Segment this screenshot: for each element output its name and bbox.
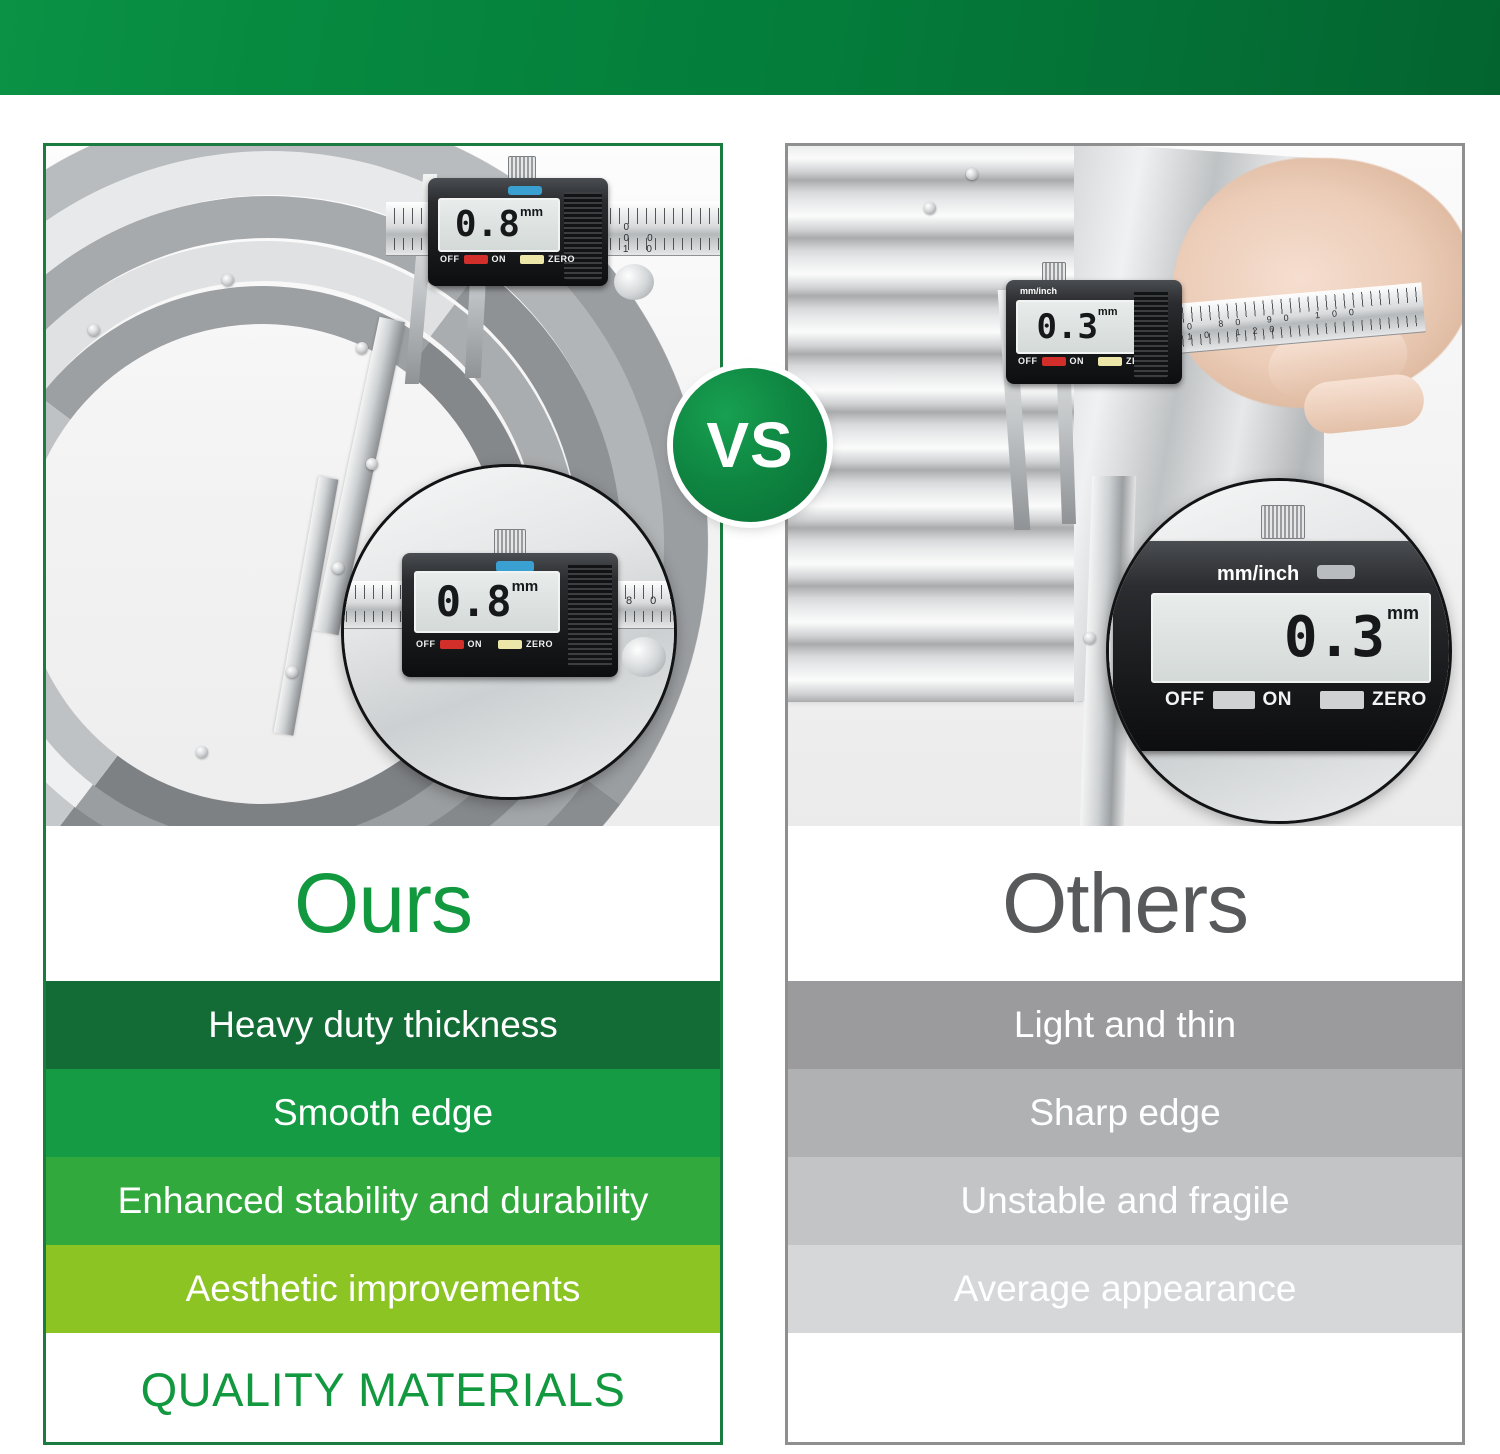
inset-zero-switch[interactable] <box>1320 691 1364 709</box>
ring-bolt <box>196 746 208 758</box>
plate-bolt <box>924 202 936 214</box>
ours-magnifier-inset: 80 0.8 mm OFF ON ZERO <box>341 464 677 800</box>
caliper-off-label: OFF <box>1018 356 1038 366</box>
ours-feature-label: Enhanced stability and durability <box>118 1180 649 1222</box>
caliper-on-label: ON <box>492 254 507 264</box>
others-footer-row <box>788 1333 1462 1445</box>
inset-caliper-reading: 0.3 <box>1284 610 1385 666</box>
caliper-button-row: OFF ON ZERO <box>1018 356 1153 366</box>
ours-feature-row-4: Aesthetic improvements <box>46 1245 720 1333</box>
inset-caliper-knob <box>1261 505 1305 539</box>
caliper-grip-ridges <box>564 192 602 280</box>
caliper-grip-ridges <box>1134 290 1168 378</box>
others-feature-label: Light and thin <box>1014 1004 1236 1046</box>
inset-caliper-numbers: 80 <box>626 595 674 607</box>
ring-bolt <box>286 666 298 678</box>
top-green-banner <box>0 0 1500 95</box>
ours-title: Ours <box>294 855 472 952</box>
inset-caliper-reading: 0.8 <box>436 581 512 623</box>
others-feature-row-3: Unstable and fragile <box>788 1157 1462 1245</box>
ours-feature-row-1: Heavy duty thickness <box>46 981 720 1069</box>
inset-caliper-display: 0.8 mm <box>414 571 560 633</box>
ours-panel: 80 100 110 0.8 mm OFF ON ZERO <box>43 143 723 1445</box>
caliper-depth-rod <box>614 264 654 300</box>
inset-caliper-off-label: OFF <box>416 639 436 649</box>
inset-power-switch[interactable] <box>440 640 464 649</box>
others-feature-row-4: Average appearance <box>788 1245 1462 1333</box>
power-switch[interactable] <box>464 255 488 264</box>
inset-caliper-ridges <box>568 563 612 667</box>
inset-mode-button[interactable] <box>1317 565 1355 579</box>
others-caliper: 70 80 90 100 110 120 mm/inch 0.3 mm OFF … <box>984 256 1424 456</box>
zero-switch[interactable] <box>520 255 544 264</box>
inset-caliper-zero-label: ZERO <box>1372 689 1427 711</box>
inset-caliper-on-label: ON <box>468 639 483 649</box>
ours-feature-row-2: Smooth edge <box>46 1069 720 1157</box>
others-magnifier-inset: mm/inch 0.3 mm OFF ON ZERO <box>1106 478 1452 824</box>
caliper-unit: mm <box>1098 306 1118 318</box>
ours-feature-label: Heavy duty thickness <box>208 1004 558 1046</box>
caliper-mode-label: mm/inch <box>1020 286 1057 296</box>
others-panel: 70 80 90 100 110 120 mm/inch 0.3 mm OFF … <box>785 143 1465 1445</box>
ring-bolt <box>222 274 234 286</box>
caliper-button-row: OFF ON ZERO <box>440 254 575 264</box>
inset-power-switch[interactable] <box>1213 691 1255 709</box>
others-title: Others <box>1002 855 1248 952</box>
plate-bolt <box>966 168 978 180</box>
caliper-blue-tab <box>508 186 542 195</box>
others-feature-label: Average appearance <box>954 1268 1297 1310</box>
inset-caliper-on-label: ON <box>1263 689 1293 711</box>
ours-feature-row-3: Enhanced stability and durability <box>46 1157 720 1245</box>
others-feature-row-1: Light and thin <box>788 981 1462 1069</box>
caliper-scale-numbers: 80 100 110 <box>600 222 720 255</box>
caliper-thumb-knob <box>1042 262 1066 282</box>
ours-feature-label: Aesthetic improvements <box>186 1268 581 1310</box>
inset-caliper-display: 0.3 mm <box>1151 593 1431 683</box>
caliper-display: 0.8 mm <box>438 198 560 252</box>
others-feature-label: Unstable and fragile <box>960 1180 1289 1222</box>
ring-bolt <box>356 342 368 354</box>
inset-caliper-unit: mm <box>512 578 539 595</box>
inset-caliper-button-row: OFF ON ZERO <box>416 639 553 649</box>
power-switch[interactable] <box>1042 357 1066 366</box>
comparison-area: 80 100 110 0.8 mm OFF ON ZERO <box>0 95 1500 1454</box>
inset-zero-switch[interactable] <box>498 640 522 649</box>
caliper-reading: 0.3 <box>1037 310 1098 344</box>
caliper-unit: mm <box>520 204 543 219</box>
caliper-reading: 0.8 <box>455 207 520 243</box>
others-title-row: Others <box>788 826 1462 981</box>
others-feature-row-2: Sharp edge <box>788 1069 1462 1157</box>
inset-caliper-off-label: OFF <box>1165 689 1205 711</box>
ring-bolt <box>88 324 100 336</box>
plate-bolt <box>1084 632 1096 644</box>
inset-caliper-unit: mm <box>1387 603 1419 624</box>
caliper-thumb-knob <box>508 156 536 180</box>
inset-caliper-zero-label: ZERO <box>526 639 553 649</box>
inset-caliper-button-row: OFF ON ZERO <box>1165 689 1427 711</box>
vs-badge: VS <box>673 368 827 522</box>
others-product-photo: 70 80 90 100 110 120 mm/inch 0.3 mm OFF … <box>788 146 1462 826</box>
inset-caliper-depth-rod <box>622 637 666 677</box>
ours-caliper: 80 100 110 0.8 mm OFF ON ZERO <box>386 156 720 346</box>
zero-switch[interactable] <box>1098 357 1122 366</box>
ours-product-photo: 80 100 110 0.8 mm OFF ON ZERO <box>46 146 720 826</box>
caliper-display: 0.3 mm <box>1016 300 1138 354</box>
ours-feature-label: Smooth edge <box>273 1092 493 1134</box>
caliper-zero-label: ZERO <box>548 254 575 264</box>
inset-caliper-mode-label: mm/inch <box>1217 563 1299 586</box>
caliper-off-label: OFF <box>440 254 460 264</box>
ours-title-row: Ours <box>46 826 720 981</box>
quality-materials-label: QUALITY MATERIALS <box>141 1362 626 1417</box>
caliper-on-label: ON <box>1070 356 1085 366</box>
others-feature-label: Sharp edge <box>1029 1092 1220 1134</box>
ring-bolt <box>332 562 344 574</box>
ours-footer-row: QUALITY MATERIALS <box>46 1333 720 1445</box>
vs-label: VS <box>706 408 793 482</box>
